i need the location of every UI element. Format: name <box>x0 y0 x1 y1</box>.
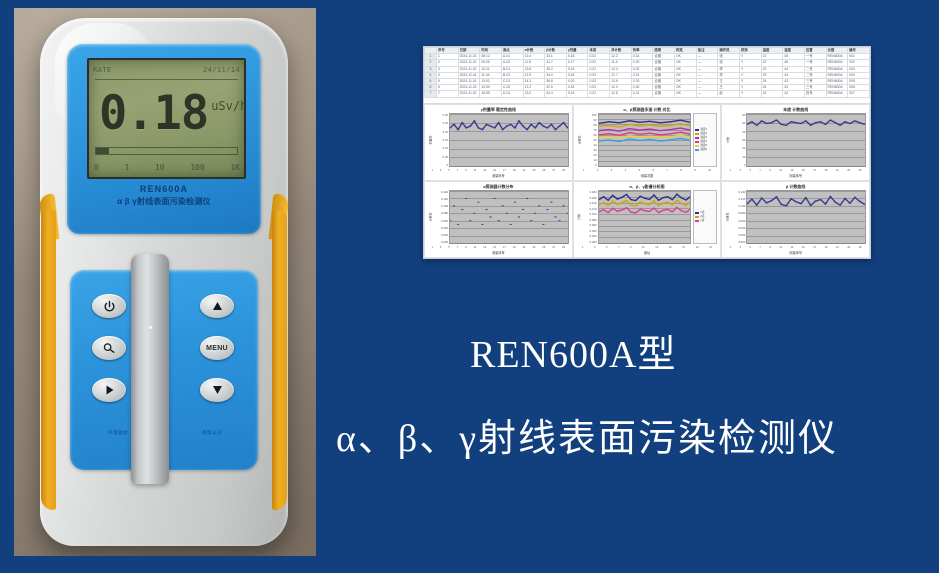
chart-data-point <box>824 124 827 125</box>
chart-y-tick: 70 <box>582 128 597 132</box>
chart-x-tick: 17 <box>503 246 506 249</box>
chart-data-point <box>751 121 754 122</box>
chart-y-ticks: 0.1400.1200.1000.0800.0600.0400.0200.000 <box>433 190 449 244</box>
spreadsheet-cell: 0.19 <box>566 91 588 97</box>
chart-y-tick: 0.020 <box>582 234 597 238</box>
chart-data-point <box>558 126 561 127</box>
product-title: REN600A型 <box>470 333 900 377</box>
spreadsheet-cell: 赵 <box>718 91 740 97</box>
chart-data-point <box>649 124 651 125</box>
chart-data-point <box>669 133 671 134</box>
chart-data-point <box>634 205 636 206</box>
chart-x-tick: 9 <box>630 246 631 249</box>
menu-button-label: MENU <box>206 345 228 352</box>
chart-x-tick: 13 <box>790 169 793 172</box>
chart-x-tick: 9 <box>769 246 770 249</box>
chart-y-tick: 0.10 <box>433 146 448 150</box>
chart-series-line <box>599 132 691 135</box>
chart-y-tick: 0.060 <box>730 219 745 223</box>
chart-x-tick: 7 <box>759 246 760 249</box>
chart-data-point <box>639 201 641 202</box>
chart-y-tick: 10 <box>582 158 597 162</box>
chart-data-point <box>648 199 650 200</box>
power-button[interactable] <box>92 294 126 318</box>
chart-y-tick: 0.080 <box>582 218 597 222</box>
chart-data-point <box>761 197 764 198</box>
chart-x-tick: 6 <box>653 169 654 172</box>
chart-data-point <box>820 121 823 122</box>
chart-x-tick: 17 <box>682 246 685 249</box>
chart-data-point <box>534 127 537 128</box>
chart-data-point <box>639 196 641 197</box>
chart-data-point <box>477 127 480 128</box>
chart-data-point <box>621 202 623 203</box>
chart-grid: γ剂量率 稳定性曲线剂量率0.300.250.200.150.100.05013… <box>424 104 870 258</box>
chart-gridline <box>599 243 691 244</box>
lcd-reading: 0.18 uSv/h <box>99 82 238 144</box>
chart-x-tick: 3 <box>740 169 741 172</box>
chart-data-point <box>608 121 610 122</box>
chart-data-point <box>554 129 557 130</box>
chart-x-tick: 29 <box>562 169 565 172</box>
chart-data-point <box>761 120 764 121</box>
chart-data-point <box>546 209 549 210</box>
chart-data-point <box>522 209 525 210</box>
spreadsheet-cell: 0.02 <box>588 91 610 97</box>
chart-data-point <box>751 199 754 200</box>
chart-x-tick: 11 <box>779 169 782 172</box>
lcd-scale-tick: 0 <box>94 163 99 172</box>
chart-plot-area <box>449 113 569 167</box>
chart-x-axis-label: 测量序号 <box>428 251 569 256</box>
chart-data-point <box>775 119 778 120</box>
spreadsheet-cell: D-01 <box>501 91 523 97</box>
chart-data-point <box>659 137 661 138</box>
chart-data-point <box>657 200 659 201</box>
chart-data-point <box>795 122 798 123</box>
chart-gridline <box>747 166 865 167</box>
chart-x-tick: 7 <box>457 246 458 249</box>
chart-data-point <box>542 126 545 127</box>
chart-data-point <box>795 201 798 202</box>
menu-button[interactable]: MENU <box>200 336 234 360</box>
chart-x-tick: 23 <box>533 246 536 249</box>
chart-data-point <box>628 120 630 121</box>
chart-x-tick: 21 <box>523 169 526 172</box>
chart-data-point <box>493 198 496 199</box>
rubber-grip-left <box>41 210 56 510</box>
chart-data-point <box>485 124 488 125</box>
chart-data-point <box>800 123 803 124</box>
chart-gridline <box>450 166 568 167</box>
chart-x-axis-label: 测量序号 <box>725 174 866 179</box>
chart-x-tick: 11 <box>474 246 477 249</box>
spreadsheet-cell: 2024-11-01 <box>458 60 480 66</box>
chart-data-point <box>638 122 640 123</box>
chart-x-tick: 11 <box>779 246 782 249</box>
chart-data-point <box>669 139 671 140</box>
chart-data-point <box>461 122 464 123</box>
chart-x-tick: 7 <box>457 169 458 172</box>
chart-x-tick: 19 <box>696 246 699 249</box>
chart-data-point <box>501 205 504 206</box>
chart-data-point <box>649 121 651 122</box>
chart-y-tick: 80 <box>582 123 597 127</box>
chart-x-tick: 21 <box>709 246 712 249</box>
chart-data-point <box>625 194 627 195</box>
chart-data-point <box>497 122 500 123</box>
spreadsheet-cell: 2024-11-01 <box>458 72 480 78</box>
chart-body: 计数率0.1400.1200.1000.0800.0600.0400.0200.… <box>725 190 866 244</box>
chart-x-tick: 13 <box>790 246 793 249</box>
chart-x-tick: 19 <box>513 169 516 172</box>
chart-data-point <box>457 129 460 130</box>
chart-body: 计数率1009080706050403020100通道1通道2通道3通道4通道5… <box>577 113 718 167</box>
chart-data-point <box>648 204 650 205</box>
chart-data-point <box>526 129 529 130</box>
chart-legend-swatch <box>695 129 699 131</box>
chart-data-point <box>679 138 681 139</box>
chart-x-tick: 1 <box>583 169 584 172</box>
chart-series-line <box>599 124 691 127</box>
chart-data-point <box>481 129 484 130</box>
chart-x-tick: 5 <box>448 169 449 172</box>
chart-y-tick: 0.060 <box>433 219 448 223</box>
chart-y-tick: 0.040 <box>730 226 745 230</box>
triangle-up-icon <box>211 300 224 312</box>
chart-data-point <box>621 197 623 198</box>
spreadsheet-row-index: 7 <box>425 91 437 97</box>
chart-data-point <box>790 198 793 199</box>
chart-data-point <box>628 128 630 129</box>
chart-x-tick: 3 <box>440 246 441 249</box>
chart-data-point <box>679 120 681 121</box>
chart-y-tick: 20 <box>730 146 745 150</box>
chart-x-tick: 1 <box>582 246 583 249</box>
chart-data-point <box>780 124 783 125</box>
chart-data-point <box>530 124 533 125</box>
chart-x-tick: 1 <box>431 169 432 172</box>
chart-data-point <box>639 209 641 210</box>
chart-x-tick: 29 <box>562 246 565 249</box>
chart-x-tick: 5 <box>606 246 607 249</box>
chart-x-tick: 21 <box>523 246 526 249</box>
chart-data-point <box>829 119 832 120</box>
chart-data-point <box>766 202 769 203</box>
chart-data-point <box>657 205 659 206</box>
chart-data-point <box>608 129 610 130</box>
magnifier-icon <box>102 342 116 355</box>
chart-data-point <box>671 211 673 212</box>
chart-x-tick: 17 <box>503 169 506 172</box>
chart-data-point <box>489 216 492 217</box>
chart-data-point <box>611 208 613 209</box>
chart-data-point <box>834 122 837 123</box>
chart-panel: β 计数曲线计数率0.1400.1200.1000.0800.0600.0400… <box>721 181 870 258</box>
chart-data-point <box>616 199 618 200</box>
chart-legend-swatch <box>695 220 699 222</box>
chart-x-ticks: 135791113151719212325 <box>725 244 866 251</box>
chart-data-point <box>546 127 549 128</box>
spreadsheet-cell: 007 <box>848 91 870 97</box>
chart-x-tick: 13 <box>655 246 658 249</box>
chart-data-point <box>616 204 618 205</box>
chart-data-point <box>820 199 823 200</box>
chart-data-point <box>497 220 500 221</box>
chart-data-point <box>461 209 464 210</box>
chart-legend-label: γ道 <box>700 219 704 223</box>
chart-data-point <box>530 220 533 221</box>
chart-legend: 通道1通道2通道3通道4通道5通道6 <box>693 113 717 167</box>
chart-data-point <box>679 127 681 128</box>
chart-data-point <box>634 200 636 201</box>
chart-data-point <box>602 209 604 210</box>
chart-x-tick: 3 <box>611 169 612 172</box>
chart-data-point <box>608 125 610 126</box>
chart-data-point <box>608 133 610 134</box>
lcd-display: RATE 24/11/14 0.18 uSv/h 01101001K <box>87 58 246 179</box>
chart-series-line <box>450 121 568 130</box>
chart-data-point <box>771 122 774 123</box>
chart-data-point <box>477 202 480 203</box>
chart-x-tick: 5 <box>749 246 750 249</box>
play-button[interactable] <box>92 378 126 402</box>
chart-x-tick: 11 <box>474 169 477 172</box>
chart-data-point <box>649 139 651 140</box>
chart-plot-area <box>746 113 866 167</box>
chart-data-point <box>756 125 759 126</box>
chart-panel: γ剂量率 稳定性曲线剂量率0.300.250.200.150.100.05013… <box>424 104 573 181</box>
chart-data-point <box>679 123 681 124</box>
chart-data-point <box>679 135 681 136</box>
chart-data-point <box>666 196 668 197</box>
chart-y-tick: 0.20 <box>433 130 448 134</box>
chart-data-point <box>849 123 852 124</box>
chart-legend: α道β道γ道 <box>693 190 717 244</box>
chart-legend-item: γ道 <box>695 219 715 223</box>
lcd-scale-tick: 100 <box>190 163 204 172</box>
chart-data-point <box>473 213 476 214</box>
chart-data-point <box>625 200 627 201</box>
chart-data-point <box>662 197 664 198</box>
chart-data-point <box>608 139 610 140</box>
chart-data-point <box>638 125 640 126</box>
chart-data-point <box>659 140 661 141</box>
chart-data-point <box>676 194 678 195</box>
chart-legend-swatch <box>695 141 699 143</box>
chart-data-point <box>638 134 640 135</box>
chart-x-ticks: 12345678910 <box>577 167 718 174</box>
chart-y-tick: 0.120 <box>433 197 448 201</box>
chart-data-point <box>844 121 847 122</box>
chart-legend-label: 通道6 <box>700 148 707 152</box>
chart-y-ticks: 0.300.250.200.150.100.050 <box>433 113 449 167</box>
chart-data-point <box>634 212 636 213</box>
device-chinese-label: α β γ射线表面污染检测仪 <box>67 196 261 207</box>
chart-panel: α、β、γ能谱分析图计数0.1800.1600.1400.1200.1000.0… <box>573 181 722 258</box>
chart-data-point <box>810 125 813 126</box>
chart-y-ticks: 0.1400.1200.1000.0800.0600.0400.0200.000 <box>730 190 746 244</box>
chart-data-point <box>653 207 655 208</box>
chart-data-point <box>653 200 655 201</box>
search-button[interactable] <box>92 336 126 360</box>
chart-data-point <box>566 213 567 214</box>
chart-x-tick: 17 <box>813 246 816 249</box>
up-button[interactable] <box>200 294 234 318</box>
chart-plot-area <box>746 190 866 244</box>
chart-data-point <box>649 136 651 137</box>
spreadsheet-cell: — <box>696 91 718 97</box>
chart-data-point <box>844 198 847 199</box>
chart-data-point <box>558 220 561 221</box>
chart-data-point <box>450 220 451 221</box>
chart-data-point <box>485 209 488 210</box>
chart-y-ticks: 1009080706050403020100 <box>582 113 598 167</box>
chart-y-tick: 0.080 <box>730 211 745 215</box>
chart-data-point <box>859 201 862 202</box>
spreadsheet-cell: 2024-11-01 <box>458 85 480 91</box>
chart-data-point <box>510 224 513 225</box>
device-model-label: REN600A <box>67 184 261 194</box>
chart-data-point <box>618 122 620 123</box>
chart-x-tick: 1 <box>730 169 731 172</box>
chart-data-point <box>526 198 529 199</box>
chart-series-line <box>599 138 691 141</box>
chart-body: 计数6050403020100 <box>725 113 866 167</box>
chart-panel: α、β探测器多道 计数 对比计数率1009080706050403020100通… <box>573 104 722 181</box>
chart-data-point <box>621 209 623 210</box>
chart-body: 计数率0.1400.1200.1000.0800.0600.0400.0200.… <box>428 190 569 244</box>
chart-x-ticks: 1357911131517192123252729 <box>428 167 569 174</box>
chart-y-tick: 0.100 <box>433 204 448 208</box>
chart-x-tick: 27 <box>552 246 555 249</box>
chart-x-tick: 5 <box>639 169 640 172</box>
chart-data-point <box>790 121 793 122</box>
chart-data-point <box>666 209 668 210</box>
chart-data-point <box>607 212 609 213</box>
chart-series-line <box>599 120 691 123</box>
rubber-grip-right <box>272 210 287 510</box>
spreadsheet-cell: 13.0 <box>523 91 545 97</box>
chart-legend-swatch <box>695 212 699 214</box>
lcd-status-bar: RATE 24/11/14 <box>93 62 240 78</box>
chart-data-point <box>854 197 857 198</box>
lcd-status-right: 24/11/14 <box>203 66 240 74</box>
chart-data-point <box>506 126 509 127</box>
chart-data-point <box>514 127 517 128</box>
chart-x-tick: 11 <box>642 246 645 249</box>
chart-y-tick: 0.020 <box>730 233 745 237</box>
chart-data-point <box>859 122 862 123</box>
chart-data-point <box>465 198 468 199</box>
chart-series-line <box>599 135 691 138</box>
spreadsheet-cell: 12.8 <box>610 91 632 97</box>
spreadsheet-cell: 15:55 <box>480 91 502 97</box>
chart-y-tick: 0.040 <box>433 226 448 230</box>
chart-y-tick: 0.25 <box>433 121 448 125</box>
chart-body: 计数0.1800.1600.1400.1200.1000.0800.0600.0… <box>577 190 718 244</box>
chart-data-point <box>756 205 759 206</box>
chart-data-point <box>607 200 609 201</box>
chart-y-tick: 90 <box>582 118 597 122</box>
chart-data-point <box>638 140 640 141</box>
chart-data-point <box>550 202 553 203</box>
chart-legend-swatch <box>695 133 699 135</box>
chart-y-tick: 0.120 <box>730 197 745 201</box>
chart-data-point <box>679 132 681 133</box>
play-icon <box>103 384 116 396</box>
chart-data-point <box>493 127 496 128</box>
chart-x-axis-label: 道址 <box>577 251 718 256</box>
chart-data-point <box>662 203 664 204</box>
chart-y-tick: 0.020 <box>433 233 448 237</box>
chart-y-tick: 0.140 <box>730 190 745 194</box>
chart-data-point <box>628 124 630 125</box>
chart-data-point <box>659 130 661 131</box>
chart-y-tick: 30 <box>582 148 597 152</box>
chart-data-point <box>839 205 842 206</box>
chart-data-point <box>630 199 632 200</box>
chart-gridline <box>599 166 691 167</box>
chart-y-tick: 0.140 <box>433 190 448 194</box>
chart-x-tick: 19 <box>825 169 828 172</box>
chart-data-point <box>666 202 668 203</box>
lcd-divider <box>95 79 238 80</box>
chart-data-point <box>522 126 525 127</box>
chart-body: 剂量率0.300.250.200.150.100.050 <box>428 113 569 167</box>
chart-plot-area <box>449 190 569 244</box>
chart-y-tick: 40 <box>582 143 597 147</box>
chart-x-axis-label: 测量序号 <box>428 174 569 179</box>
chart-panel: α探测器计数分布计数率0.1400.1200.1000.0800.0600.04… <box>424 181 573 258</box>
down-button[interactable] <box>200 378 234 402</box>
lcd-bargraph-fill <box>96 148 109 154</box>
chart-legend-item: 通道6 <box>695 148 715 152</box>
chart-y-tick: 60 <box>730 113 745 117</box>
chart-y-tick: 0.120 <box>582 207 597 211</box>
chart-panel: 本底 计数曲线计数6050403020100135791113151719212… <box>721 104 870 181</box>
spreadsheet-cell: REN600A <box>826 91 848 97</box>
chart-x-tick: 7 <box>618 246 619 249</box>
chart-data-point <box>628 138 630 139</box>
chart-y-tick: 100 <box>582 113 597 117</box>
chart-x-ticks: 135791113151719212325 <box>725 167 866 174</box>
chart-data-point <box>514 202 517 203</box>
chart-x-tick: 5 <box>749 169 750 172</box>
chart-y-tick: 40 <box>730 130 745 134</box>
chart-data-point <box>671 204 673 205</box>
chart-gridline <box>450 243 568 244</box>
chart-data-point <box>662 210 664 211</box>
chart-x-axis-label: 测量序号 <box>725 251 866 256</box>
chart-y-tick: 0.040 <box>582 229 597 233</box>
product-photo: RATE 24/11/14 0.18 uSv/h 01101001K REN60… <box>14 8 316 556</box>
chart-x-tick: 2 <box>597 169 598 172</box>
spreadsheet-cell: 34.4 <box>545 91 567 97</box>
chart-data-point <box>538 122 541 123</box>
chart-series-line <box>599 128 691 131</box>
chart-x-tick: 13 <box>483 246 486 249</box>
device-microtext-left: 环境辐射 <box>108 430 128 436</box>
lcd-unit: uSv/h <box>211 99 246 113</box>
chart-data-point <box>834 202 837 203</box>
chart-gridline <box>747 243 865 244</box>
chart-data-point <box>785 205 788 206</box>
chart-data-point <box>602 202 604 203</box>
chart-data-point <box>669 136 671 137</box>
spreadsheet-table: 序号日期时间测点α计数β计数γ剂量本底净计数效率结果判定备注操作员校准温度湿度位… <box>424 47 870 104</box>
chart-x-tick: 3 <box>440 169 441 172</box>
